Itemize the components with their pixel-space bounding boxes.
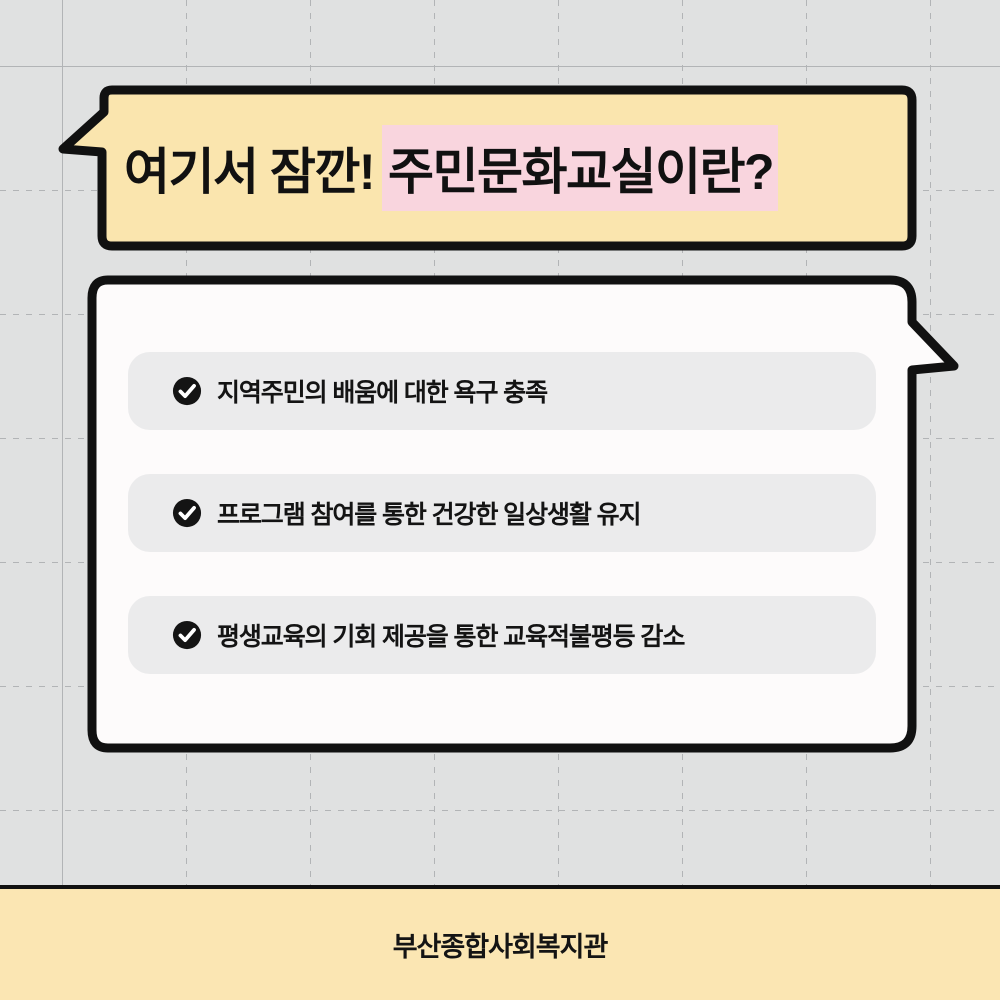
check-circle-icon [172, 620, 202, 650]
content-card: 지역주민의 배움에 대한 욕구 충족 프로그램 참여를 통한 건강한 일상생활 … [86, 274, 966, 754]
list-item-label: 평생교육의 기회 제공을 통한 교육적불평등 감소 [217, 617, 684, 653]
check-circle-icon [172, 376, 202, 406]
list-item-label: 지역주민의 배움에 대한 욕구 충족 [217, 373, 547, 409]
list-item[interactable]: 지역주민의 배움에 대한 욕구 충족 [128, 352, 876, 430]
check-circle-icon [172, 498, 202, 528]
list-item[interactable]: 평생교육의 기회 제공을 통한 교육적불평등 감소 [128, 596, 876, 674]
title-speech-bubble: 여기서 잠깐! 주민문화교실이란? [54, 84, 920, 256]
list-item-label: 프로그램 참여를 통한 건강한 일상생활 유지 [217, 495, 640, 531]
list-item[interactable]: 프로그램 참여를 통한 건강한 일상생활 유지 [128, 474, 876, 552]
title-plain-text: 여기서 잠깐! [124, 132, 376, 204]
title-highlighted-text: 주민문화교실이란? [382, 125, 778, 211]
page-title: 여기서 잠깐! 주민문화교실이란? [124, 118, 914, 218]
organization-name: 부산종합사회복지관 [393, 925, 608, 964]
poster-canvas: 여기서 잠깐! 주민문화교실이란? 지역주민의 배움에 대한 욕구 충족 [0, 0, 1000, 1000]
benefits-list: 지역주민의 배움에 대한 욕구 충족 프로그램 참여를 통한 건강한 일상생활 … [128, 352, 876, 674]
footer-band: 부산종합사회복지관 [0, 885, 1000, 1000]
